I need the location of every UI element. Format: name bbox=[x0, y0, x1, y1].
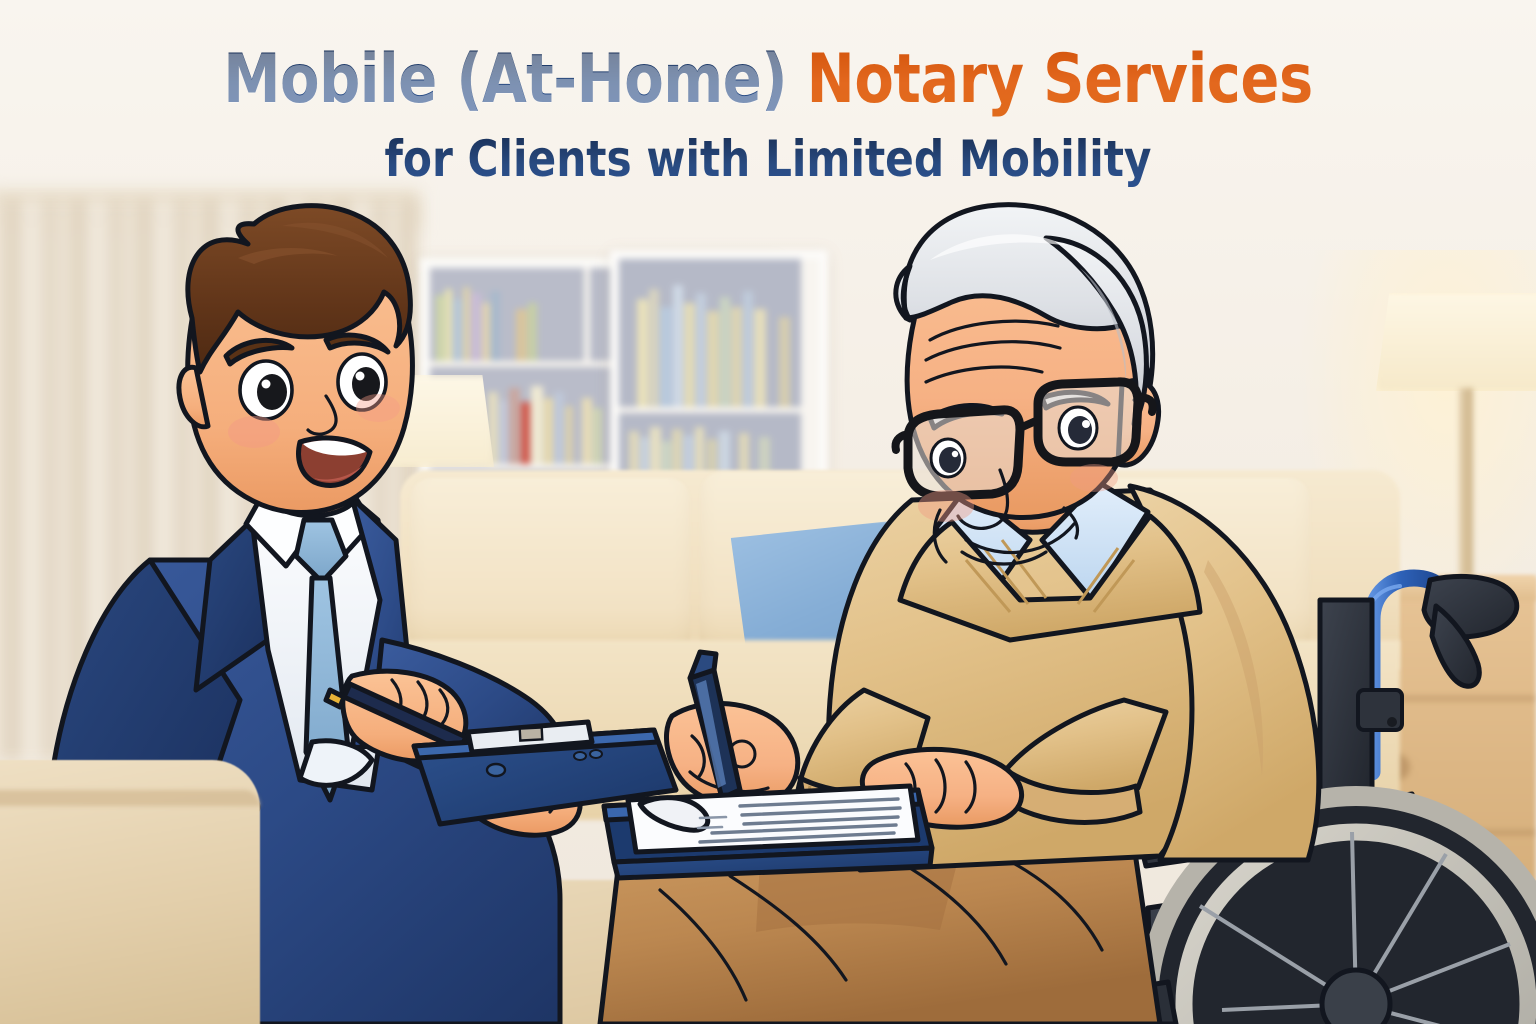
illustration-canvas: Mobile (At-Home) Notary Services for Cli… bbox=[0, 0, 1536, 1024]
title-orange-part: Notary Services bbox=[807, 40, 1313, 119]
title-navy-part: Mobile (At-Home) bbox=[223, 40, 806, 119]
page-title: Mobile (At-Home) Notary Services bbox=[46, 46, 1490, 114]
headline-block: Mobile (At-Home) Notary Services for Cli… bbox=[0, 46, 1536, 188]
client-clipboard bbox=[604, 786, 932, 878]
armchair-edge bbox=[0, 790, 260, 806]
page-subtitle: for Clients with Limited Mobility bbox=[46, 130, 1490, 188]
